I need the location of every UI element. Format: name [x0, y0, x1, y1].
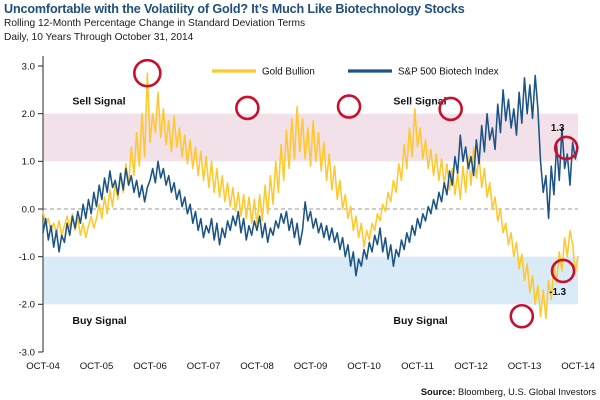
y-tick-label: -2.0 [18, 300, 35, 311]
chart-plot-area: 3.02.01.00.0-1.0-2.0-3.0OCT-04OCT-05OCT-… [0, 0, 600, 400]
chart-screenshot: Uncomfortable with the Volatility of Gol… [0, 0, 600, 400]
value-label-positive: 1.3 [551, 123, 565, 134]
x-tick-label: OCT-07 [187, 361, 221, 372]
source-label: Source: [421, 387, 456, 397]
x-tick-label: OCT-09 [294, 361, 328, 372]
x-tick-label: OCT-10 [347, 361, 381, 372]
y-tick-label: 0.0 [22, 204, 35, 215]
y-tick-label: 3.0 [22, 61, 35, 72]
y-tick-label: -3.0 [18, 347, 35, 358]
x-tick-label: OCT-04 [26, 361, 60, 372]
source-note: Source: Bloomberg, U.S. Global Investors [421, 387, 596, 397]
y-tick-label: 2.0 [22, 109, 35, 120]
x-tick-label: OCT-11 [401, 361, 434, 372]
x-tick-label: OCT-12 [454, 361, 488, 372]
y-tick-label: 1.0 [22, 157, 35, 168]
x-tick-label: OCT-05 [80, 361, 114, 372]
y-tick-label: -1.0 [18, 252, 35, 263]
source-text: Bloomberg, U.S. Global Investors [455, 387, 596, 397]
value-label-negative: -1.3 [549, 287, 566, 298]
marker-gold-2013-low [511, 305, 533, 327]
x-tick-label: OCT-14 [561, 361, 595, 372]
sell-signal-left: Sell Signal [72, 95, 125, 107]
x-tick-label: OCT-08 [240, 361, 274, 372]
buy-signal-left: Buy Signal [72, 315, 126, 327]
sell-signal-right: Sell Signal [393, 95, 446, 107]
buy-signal-right: Buy Signal [393, 315, 447, 327]
x-tick-label: OCT-06 [133, 361, 167, 372]
legend-label-gold-bullion: Gold Bullion [262, 67, 315, 78]
buy-signal-band [43, 257, 578, 305]
line-chart: 3.02.01.00.0-1.0-2.0-3.0OCT-04OCT-05OCT-… [0, 0, 600, 400]
legend-label-sp500-biotech: S&P 500 Biotech Index [398, 67, 499, 78]
x-tick-label: OCT-13 [508, 361, 542, 372]
